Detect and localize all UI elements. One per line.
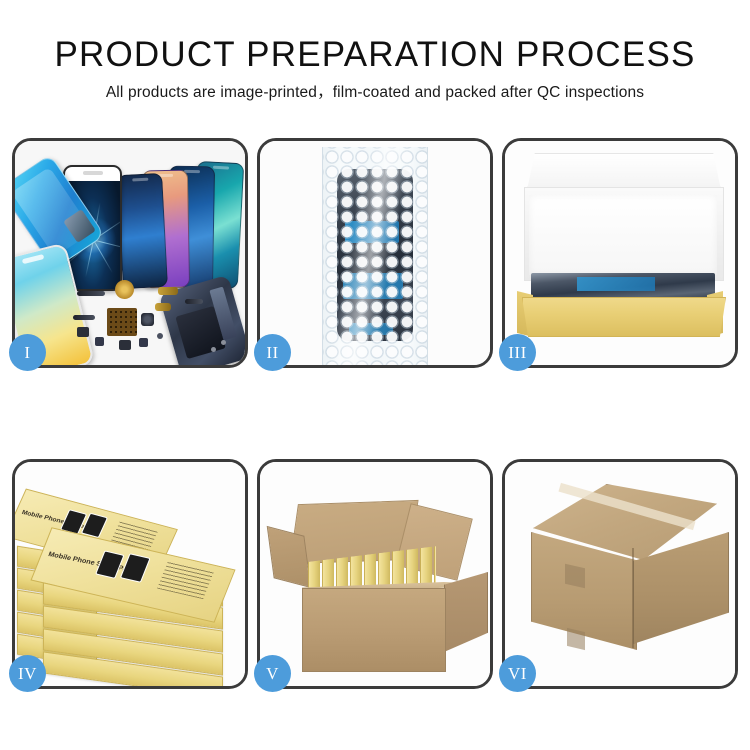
page-subtitle: All products are image-printed，film-coat… [0, 83, 750, 103]
carton-handle-tab-lower [567, 628, 585, 650]
step-5-image [260, 462, 490, 686]
carton-front-panel [302, 588, 446, 672]
step-6-image [505, 462, 735, 686]
process-step-grid: I II [12, 138, 738, 689]
inner-box-front-wall [522, 297, 726, 337]
inner-box-lid [527, 153, 721, 190]
retail-box-stack: Mobile Phone Spare Parts Mobile Phone Sp… [15, 462, 245, 686]
product-preparation-infographic: PRODUCT PREPARATION PROCESS All products… [0, 0, 750, 750]
step-badge-4: IV [9, 655, 46, 692]
step-badge-3: III [499, 334, 536, 371]
process-step-4[interactable]: Mobile Phone Spare Parts Mobile Phone Sp… [12, 459, 248, 689]
step-3-image [505, 141, 735, 365]
header: PRODUCT PREPARATION PROCESS All products… [0, 34, 750, 103]
process-step-2[interactable]: II [257, 138, 493, 368]
process-step-5[interactable]: V [257, 459, 493, 689]
step-4-image: Mobile Phone Spare Parts Mobile Phone Sp… [15, 462, 245, 686]
carton-handle-tab-upper [565, 564, 585, 589]
process-step-6[interactable]: VI [502, 459, 738, 689]
step-badge-1: I [9, 334, 46, 371]
step-badge-5: V [254, 655, 291, 692]
process-step-3[interactable]: III [502, 138, 738, 368]
foam-liner [529, 195, 717, 275]
step-2-image [260, 141, 490, 365]
step-badge-2: II [254, 334, 291, 371]
page-title: PRODUCT PREPARATION PROCESS [0, 34, 750, 76]
step-badge-6: VI [499, 655, 536, 692]
bubble-wrap-sleeve [322, 147, 428, 365]
step-1-image [15, 141, 245, 365]
process-step-1[interactable]: I [12, 138, 248, 368]
